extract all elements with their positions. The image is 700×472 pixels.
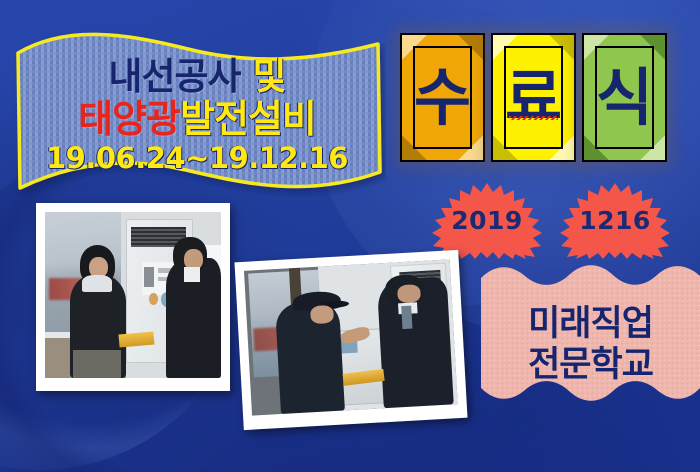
title-box-ryo: 료 — [491, 33, 576, 162]
school-name-line-1: 미래직업 — [528, 304, 653, 345]
date-badge-label: 1216 — [553, 181, 677, 259]
school-text-stack: 미래직업 전문학교 — [481, 262, 700, 414]
photo-right-image — [244, 259, 458, 415]
year-badge-2019: 2019 — [425, 181, 549, 259]
certificate-award-photo-right — [234, 250, 467, 430]
banner-line-1: 내선공사 및 — [108, 58, 285, 95]
photo-left-image — [45, 212, 221, 378]
banner-text-stack: 내선공사 및 태양광발전설비 19.06.24~19.12.16 — [8, 16, 386, 208]
banner-line-2: 태양광발전설비 — [78, 100, 316, 138]
title-box-su: 수 — [400, 33, 485, 162]
ceremony-title-boxes: 수 료 식 — [400, 33, 667, 162]
poster-canvas: 내선공사 및 태양광발전설비 19.06.24~19.12.16 수 료 식 — [0, 0, 700, 472]
school-name-line-2: 전문학교 — [528, 345, 653, 386]
year-badge-label: 2019 — [425, 181, 549, 259]
banner-line2-part2: 발전설비 — [180, 97, 316, 141]
banner-date-range: 19.06.24~19.12.16 — [46, 144, 348, 173]
spellcheck-squiggle — [509, 116, 558, 120]
title-char-1: 수 — [414, 67, 471, 129]
banner-line1-part2: 및 — [253, 55, 286, 98]
title-box-sik: 식 — [582, 33, 667, 162]
certificate-award-photo-left — [36, 203, 230, 391]
title-char-3: 식 — [596, 67, 653, 129]
date-badge-1216: 1216 — [553, 181, 677, 259]
banner-line2-part1: 태양광 — [78, 97, 180, 141]
course-title-banner: 내선공사 및 태양광발전설비 19.06.24~19.12.16 — [8, 16, 386, 208]
banner-line1-part1: 내선공사 — [108, 55, 240, 98]
school-name-banner: 미래직업 전문학교 — [481, 262, 700, 414]
